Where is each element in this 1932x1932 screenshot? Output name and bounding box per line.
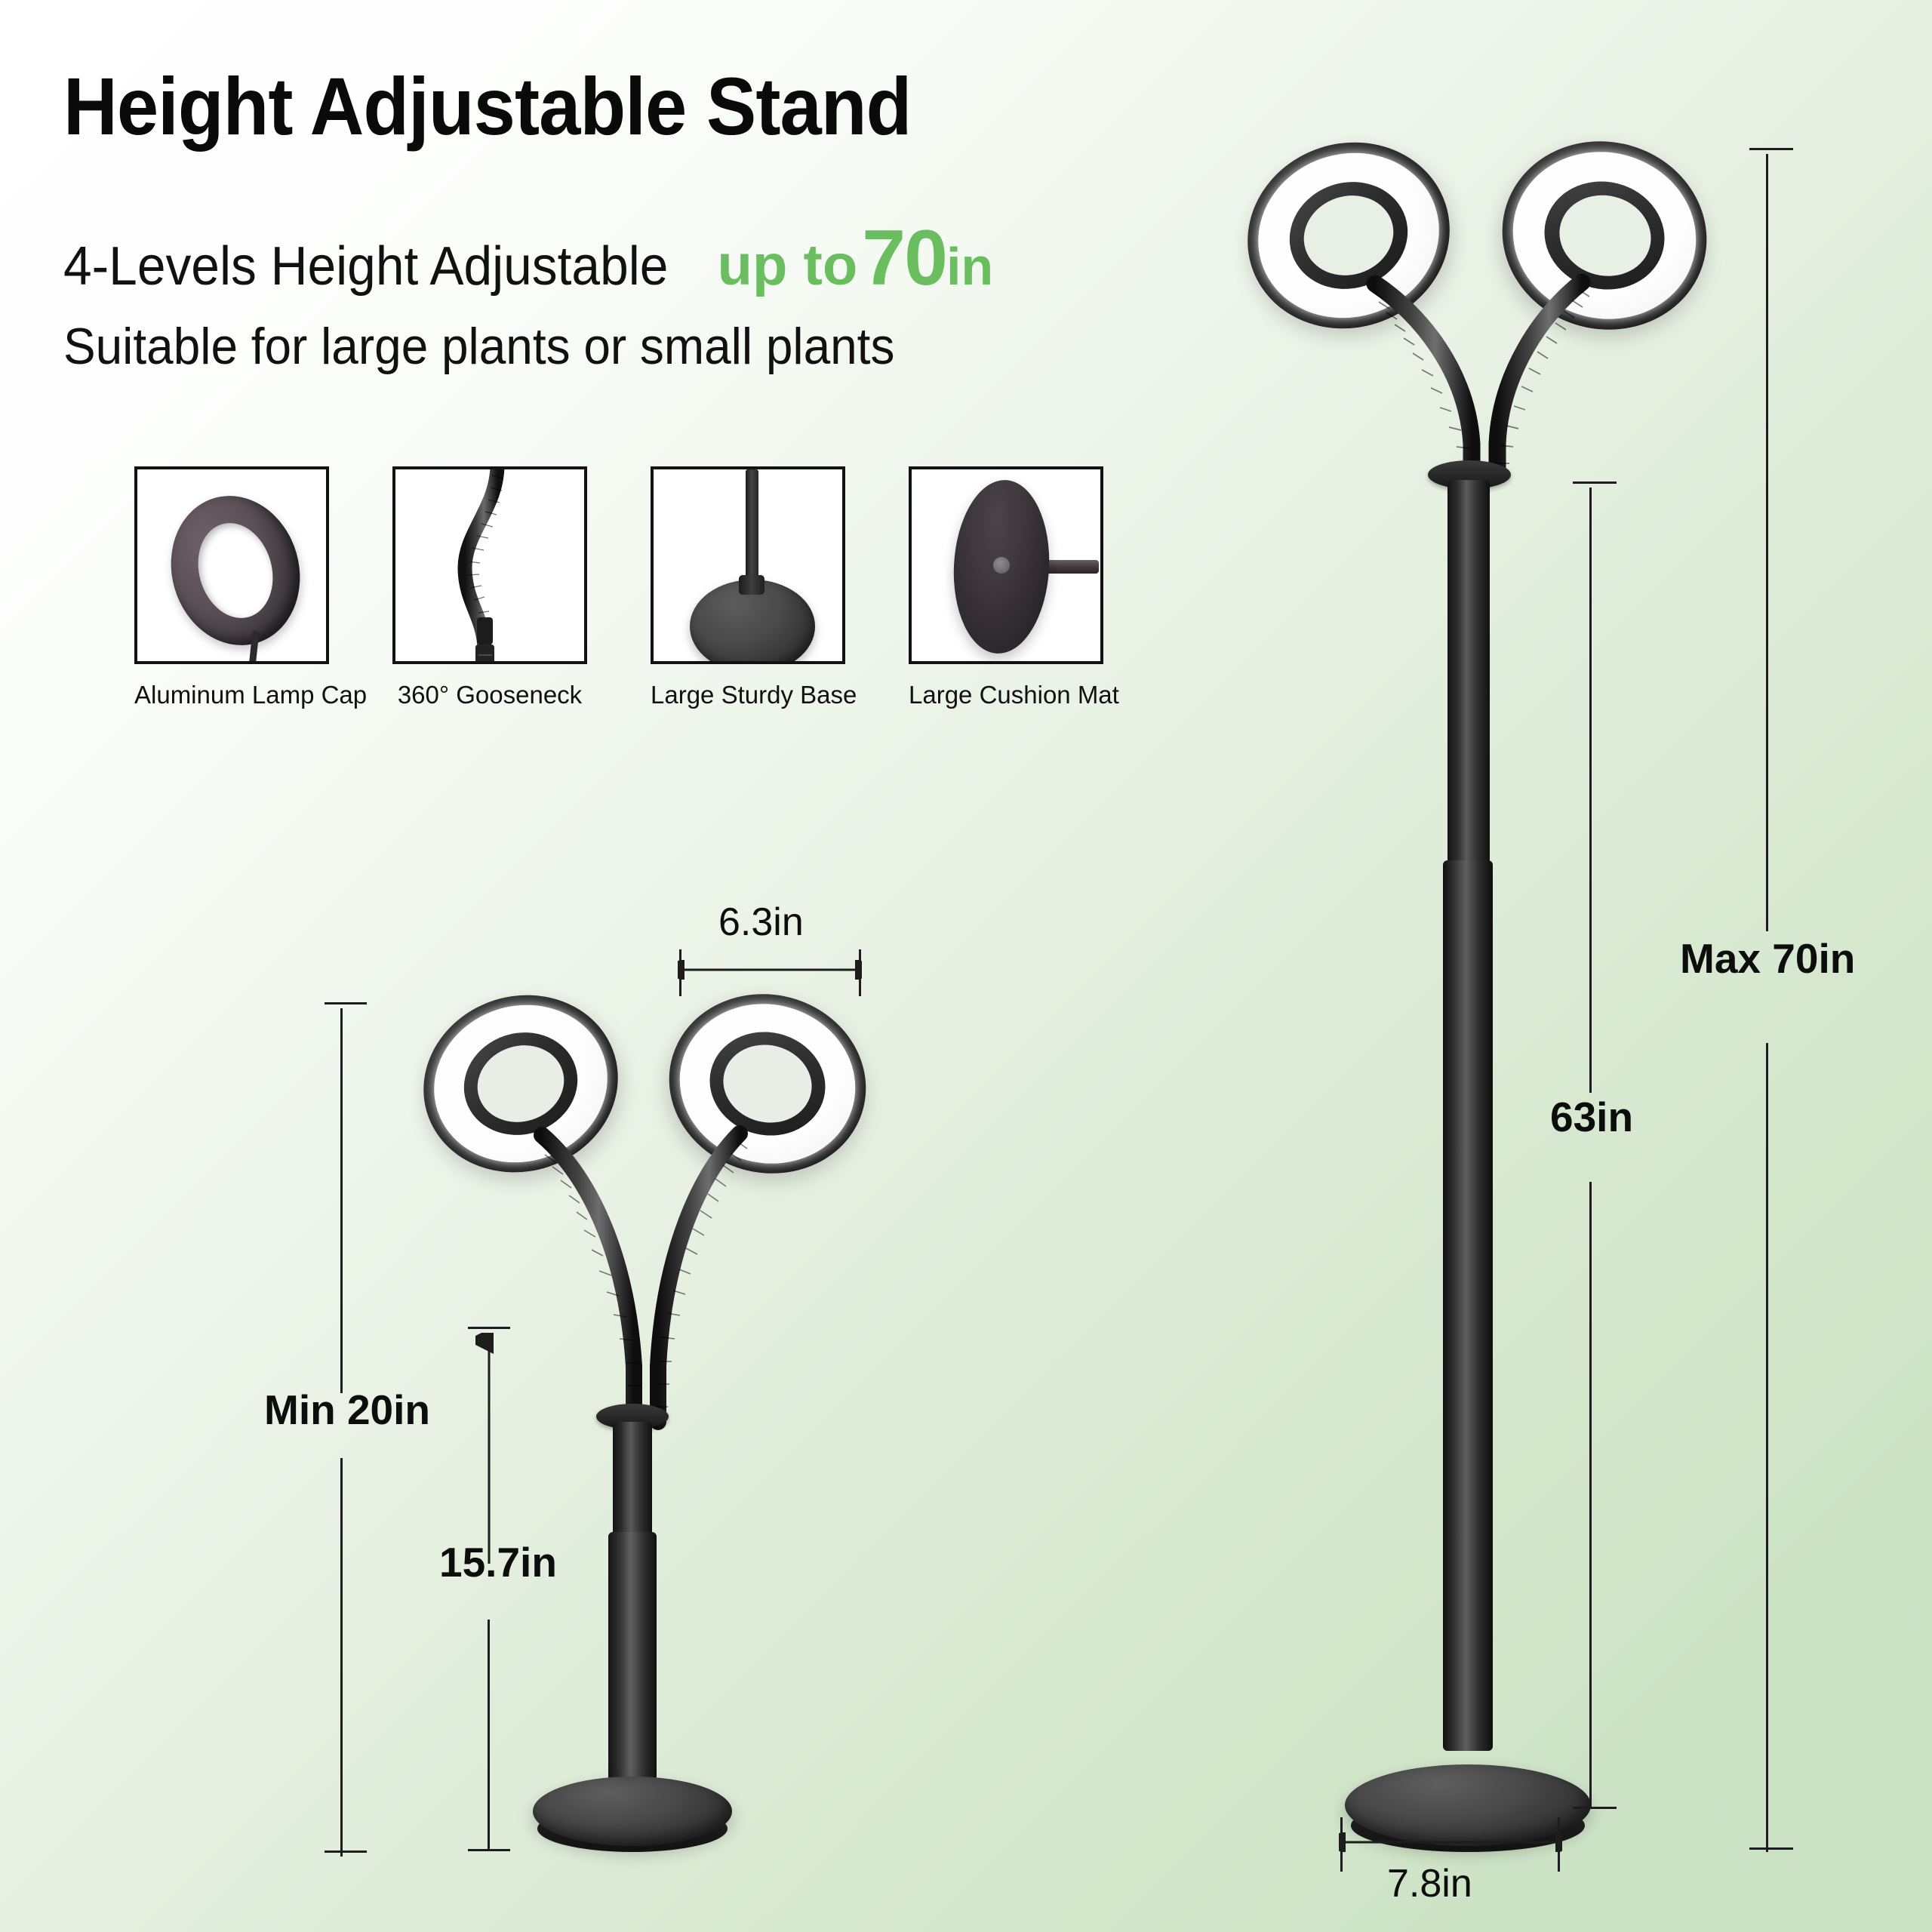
lamp-ring-icon bbox=[154, 481, 318, 661]
feature-caption: Aluminum Lamp Cap bbox=[134, 681, 329, 709]
feature-caption: Large Sturdy Base bbox=[651, 681, 845, 709]
dim-tick-bottom bbox=[1749, 1847, 1793, 1850]
dim-tick-top bbox=[1749, 148, 1793, 150]
cushion-mat-center bbox=[993, 557, 1010, 574]
feature-thumbnail-row: Aluminum Lamp Cap bbox=[134, 466, 1103, 709]
dim-line-63-bottom bbox=[1589, 1182, 1592, 1808]
base-knuckle bbox=[739, 575, 764, 595]
subtitle-accent-number: 70 bbox=[862, 214, 946, 302]
dim-line-min-top bbox=[340, 1008, 343, 1393]
feature-item-sturdy-base: Large Sturdy Base bbox=[651, 466, 845, 709]
base-pole bbox=[746, 469, 758, 586]
subtitle-accent-upto: up to bbox=[718, 233, 858, 297]
lamp-base bbox=[533, 1777, 732, 1846]
dim-tick-bottom bbox=[325, 1850, 367, 1853]
dim-tick-top bbox=[468, 1327, 510, 1329]
dim-tick-top bbox=[325, 1002, 367, 1004]
tagline: Suitable for large plants or small plant… bbox=[63, 317, 894, 376]
lamp-gooseneck-pair bbox=[513, 1117, 785, 1434]
feature-caption: Large Cushion Mat bbox=[909, 681, 1103, 709]
feature-caption: 360° Gooseneck bbox=[392, 681, 587, 709]
subtitle-accent-unit: in bbox=[946, 237, 993, 296]
dim-label-min-height: Min 20in bbox=[264, 1386, 430, 1434]
subtitle-line: 4-Levels Height Adjustableup to70in bbox=[63, 219, 993, 297]
lamp-pole-lower bbox=[608, 1532, 657, 1781]
dim-label-pole-min: 15.7in bbox=[439, 1538, 557, 1586]
subtitle-plain-text: 4-Levels Height Adjustable bbox=[63, 239, 668, 294]
infographic-canvas: Height Adjustable Stand 4-Levels Height … bbox=[0, 0, 1932, 1932]
lamp-gooseneck-pair bbox=[1342, 272, 1629, 483]
dim-line-pole-min-lower bbox=[488, 1620, 490, 1850]
dim-label-head-width: 6.3in bbox=[718, 900, 804, 945]
dim-line-min-bottom bbox=[340, 1458, 343, 1857]
feature-image-frame bbox=[651, 466, 845, 664]
gooseneck-icon bbox=[395, 469, 587, 664]
feature-item-gooseneck: 360° Gooseneck bbox=[392, 466, 587, 709]
dim-label-base-width: 7.8in bbox=[1387, 1861, 1472, 1906]
lamp-ring-hole bbox=[187, 514, 284, 627]
lamp-pole-lower bbox=[1443, 860, 1493, 1751]
dim-arrow-base-width bbox=[1339, 1832, 1562, 1852]
feature-item-cushion-mat: Large Cushion Mat bbox=[909, 466, 1103, 709]
feature-image-frame bbox=[134, 466, 329, 664]
dim-label-pole-max: 63in bbox=[1550, 1093, 1633, 1141]
dim-line-max-bottom bbox=[1766, 1043, 1768, 1852]
feature-image-frame bbox=[909, 466, 1103, 664]
dim-line-63-top bbox=[1589, 488, 1592, 1093]
dim-tick-top bbox=[1573, 481, 1617, 484]
dim-line-max-top bbox=[1766, 154, 1768, 931]
dim-arrow-pole-min-upper bbox=[475, 1333, 503, 1568]
dim-tick-bottom bbox=[1573, 1807, 1617, 1809]
page-title: Height Adjustable Stand bbox=[63, 59, 911, 153]
feature-image-frame bbox=[392, 466, 587, 664]
dim-tick-bottom bbox=[468, 1849, 510, 1851]
dim-label-max-height: Max 70in bbox=[1680, 934, 1855, 983]
dim-arrow-head-width bbox=[678, 960, 862, 980]
feature-item-lamp-cap: Aluminum Lamp Cap bbox=[134, 466, 329, 709]
